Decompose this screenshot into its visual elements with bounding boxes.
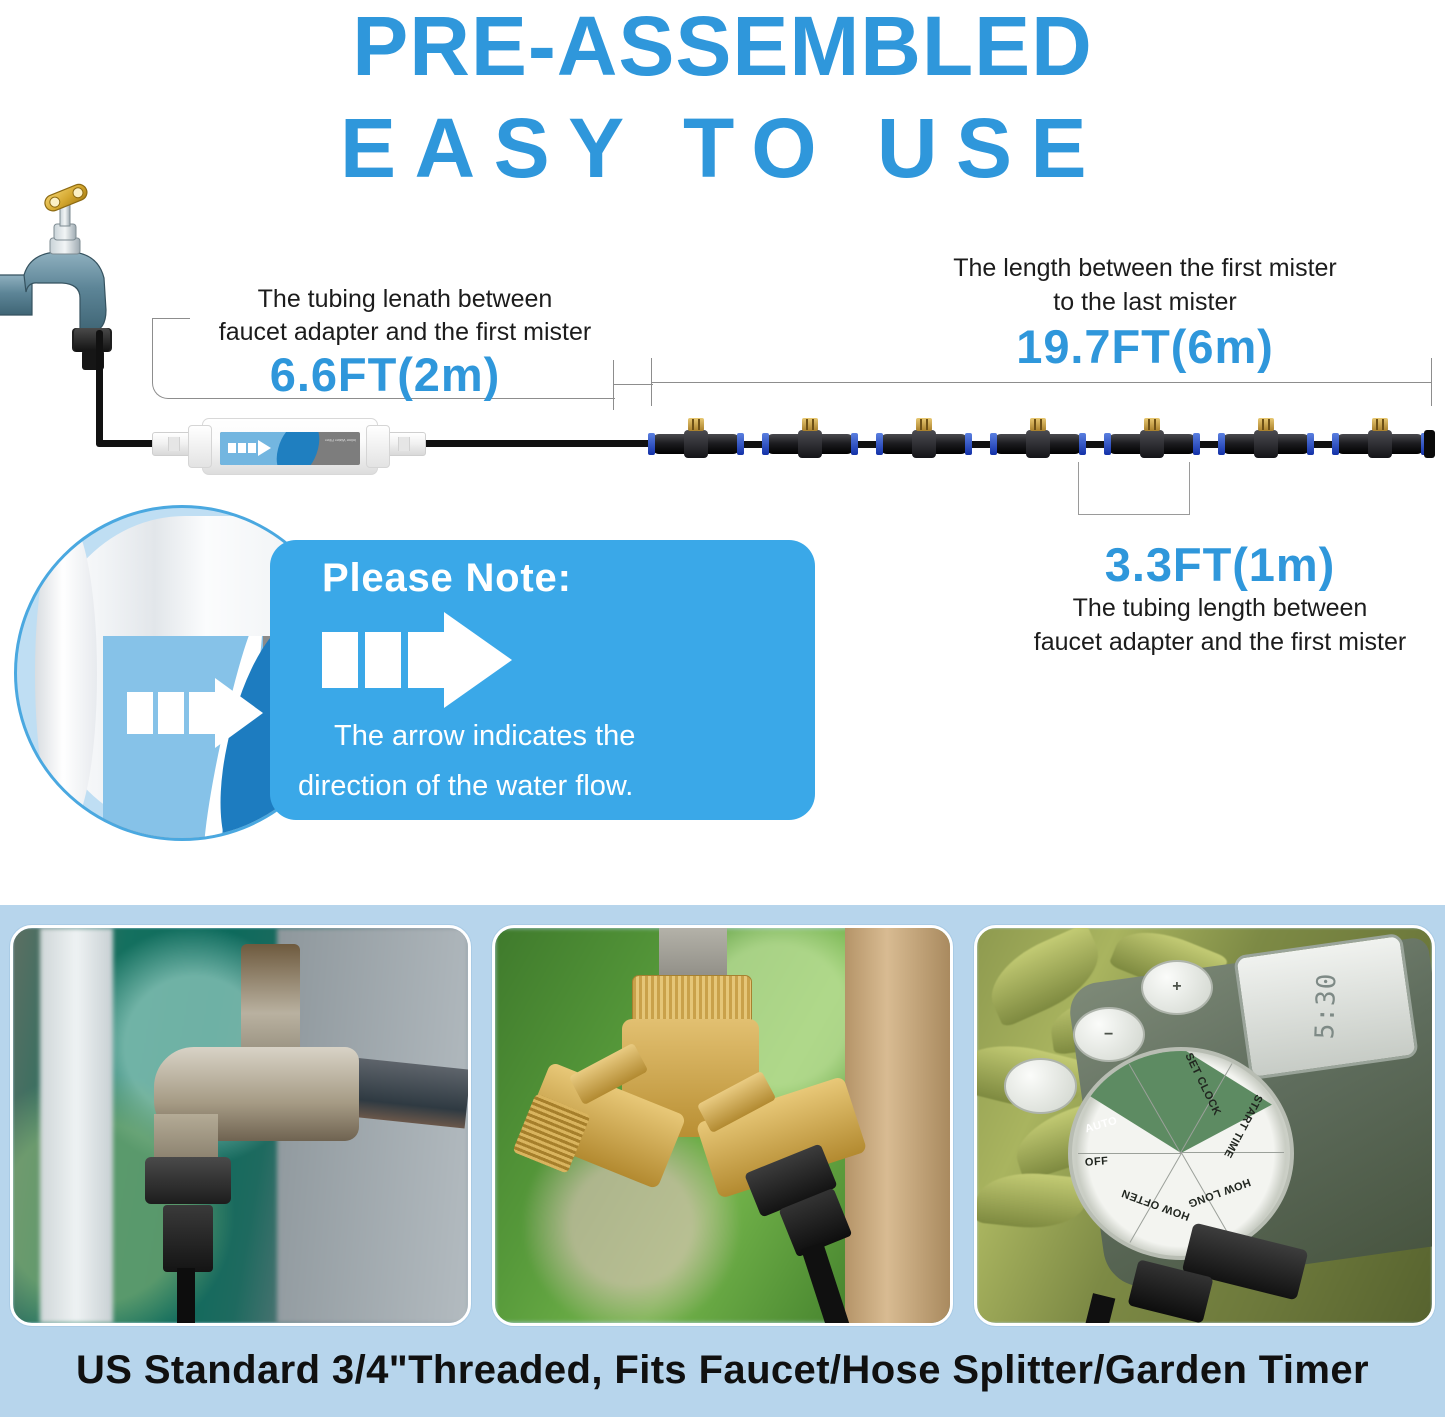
- spacing-annotation-line-1: The tubing length between: [990, 592, 1445, 625]
- water-flow-arrow-icon: [322, 618, 532, 680]
- dimension-tick-left-right-arm: [613, 384, 653, 385]
- headline-line-2: EASY TO USE: [0, 88, 1445, 190]
- brass-nozzle-icon: [916, 418, 932, 431]
- brass-nozzle-icon: [802, 418, 818, 431]
- tubing-vertical-drop: [96, 330, 103, 445]
- filter-cap-right: [366, 425, 390, 468]
- dial-option-auto[interactable]: AUTO: [1084, 1116, 1119, 1136]
- mister-nozzle: [876, 424, 972, 464]
- photo-brass-hose-splitter: [492, 925, 953, 1326]
- timer-minus-button[interactable]: −: [1073, 1007, 1145, 1062]
- mister-nozzle: [762, 424, 858, 464]
- headline-line-1: PRE-ASSEMBLED: [0, 0, 1445, 88]
- timer-display-value: 5:30: [1310, 972, 1342, 1040]
- timer-lcd-display: 5:30: [1233, 933, 1418, 1080]
- right-annotation-line-1: The length between the first mister: [835, 252, 1445, 285]
- tubing-segment-1: [96, 440, 158, 447]
- dial-option-how-long[interactable]: HOW LONG: [1186, 1175, 1252, 1208]
- dial-option-off[interactable]: OFF: [1085, 1156, 1109, 1169]
- mister-nozzle: [990, 424, 1086, 464]
- filter-cap-left: [188, 425, 212, 468]
- brass-nozzle-icon: [1372, 418, 1388, 431]
- timer-plus-button[interactable]: +: [1141, 960, 1213, 1015]
- brass-nozzle-icon: [688, 418, 704, 431]
- dial-option-how-often[interactable]: HOW OFTEN: [1120, 1186, 1191, 1221]
- dimension-tick-right-start: [651, 358, 652, 406]
- bottom-caption: US Standard 3/4"Threaded, Fits Faucet/Ho…: [0, 1348, 1445, 1393]
- left-annotation-line-1: The tubing lenath between: [190, 283, 620, 316]
- note-line-2: direction of the water flow.: [298, 770, 633, 803]
- spacing-annotation-line-2: faucet adapter and the first mister: [985, 626, 1445, 659]
- mister-nozzle: [1332, 424, 1428, 464]
- magnified-filter-cap: [35, 518, 97, 830]
- left-annotation-line-2: faucet adapter and the first mister: [170, 316, 640, 349]
- brass-nozzle-icon: [1144, 418, 1160, 431]
- headline: PRE-ASSEMBLED EASY TO USE: [0, 0, 1445, 190]
- right-annotation-line-2: to the last mister: [835, 286, 1445, 319]
- note-line-1: The arrow indicates the: [334, 720, 635, 753]
- photo-outdoor-faucet-with-adapter: [10, 925, 471, 1326]
- mister-nozzle: [648, 424, 744, 464]
- timer-mode-dial[interactable]: AUTO SET CLOCK START TIME HOW LONG HOW O…: [1068, 1047, 1294, 1260]
- flow-arrow-icon: [228, 443, 272, 453]
- note-title: Please Note:: [322, 556, 572, 601]
- dimension-line-right: [651, 382, 1432, 383]
- magnified-flow-arrow-icon: [127, 692, 252, 734]
- dimension-tick-left-right: [613, 360, 614, 410]
- left-measurement-value: 6.6FT(2m): [190, 350, 580, 399]
- filter-label: Inline Water Filter: [220, 432, 360, 465]
- mister-nozzle: [1104, 424, 1200, 464]
- dimension-bracket-spacing: [1078, 462, 1190, 515]
- filter-label-microtext: Inline Water Filter: [325, 438, 356, 443]
- please-note-panel: Please Note: The arrow indicates the dir…: [270, 540, 815, 820]
- timer-manual-button[interactable]: [1004, 1058, 1076, 1113]
- brass-nozzle-icon: [1030, 418, 1046, 431]
- brass-nozzle-icon: [1258, 418, 1274, 431]
- spacing-measurement-value: 3.3FT(1m): [990, 540, 1445, 589]
- mister-nozzle: [1218, 424, 1314, 464]
- inline-water-filter: Inline Water Filter: [188, 418, 390, 473]
- tubing-end-cap: [1424, 430, 1435, 458]
- photo-garden-water-timer: 5:30 AUTO SET CLOCK START TIME HOW LONG …: [974, 925, 1435, 1326]
- tubing-segment-3: [405, 440, 665, 447]
- right-measurement-value: 19.7FT(6m): [835, 322, 1445, 371]
